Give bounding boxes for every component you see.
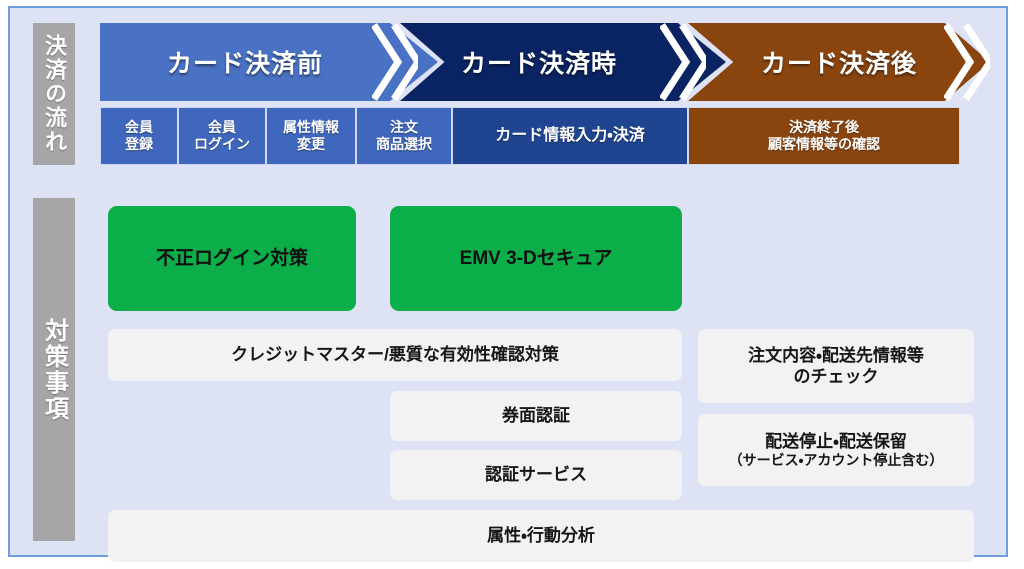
diagram-root: 決済の流れ 対策事項 カード決済前 カード決済時 カード決済後 — [0, 0, 1024, 569]
measure-order-shipping-check[interactable]: 注文内容・配送先情報等 のチェック — [698, 329, 974, 403]
step-card-info-entry-payment-label: カード情報入力・決済 — [495, 127, 644, 146]
row-label-flow: 決済の流れ — [33, 23, 75, 165]
step-post-payment-confirmation-line2: 顧客情報等の確認 — [768, 136, 880, 153]
row-label-measures: 対策事項 — [33, 198, 75, 541]
step-card-info-entry-payment[interactable]: カード情報入力・決済 — [452, 107, 688, 165]
step-post-payment-confirmation-line1: 決済終了後 — [789, 119, 859, 136]
step-member-registration[interactable]: 会員 登録 — [100, 107, 178, 165]
step-attribute-change-line1: 属性情報 — [283, 119, 339, 136]
measure-credit-master-prevention[interactable]: クレジットマスター/悪質な有効性確認対策 — [108, 329, 682, 381]
countermeasures-area: 不正ログイン対策 EMV 3-Dセキュア クレジットマスター/悪質な有効性確認対… — [100, 198, 990, 543]
measure-attribute-behavior-analysis[interactable]: 属性・行動分析 — [108, 510, 974, 562]
phase-during-payment: カード決済時 — [400, 23, 678, 101]
step-attribute-change[interactable]: 属性情報 変更 — [266, 107, 356, 165]
measure-shipping-suspension-hold-label: 配送停止・配送保留 — [765, 431, 907, 452]
measure-fraud-login-prevention-label: 不正ログイン対策 — [156, 247, 308, 271]
step-member-login-line1: 会員 — [208, 119, 236, 136]
measure-authentication-service-label: 認証サービス — [485, 464, 587, 485]
phase-after-payment: カード決済後 — [688, 23, 990, 101]
measure-shipping-suspension-hold-note: （サービス・アカウント停止含む） — [729, 452, 944, 470]
step-post-payment-confirmation[interactable]: 決済終了後 顧客情報等の確認 — [688, 107, 960, 165]
measure-emv-3d-secure[interactable]: EMV 3-Dセキュア — [390, 206, 682, 311]
phase-before-payment-label: カード決済前 — [167, 44, 323, 80]
payment-step-row: 会員 登録 会員 ログイン 属性情報 変更 注文 商品選択 カード情報入力・決済… — [100, 107, 990, 165]
step-member-login[interactable]: 会員 ログイン — [178, 107, 266, 165]
phase-during-payment-label: カード決済時 — [461, 44, 617, 80]
phase-before-payment: カード決済前 — [100, 23, 390, 101]
step-member-registration-line2: 登録 — [125, 136, 153, 153]
measure-fraud-login-prevention[interactable]: 不正ログイン対策 — [108, 206, 356, 311]
step-order-product-selection-line2: 商品選択 — [376, 136, 432, 153]
measure-card-face-authentication[interactable]: 券面認証 — [390, 391, 682, 441]
measure-credit-master-prevention-label: クレジットマスター/悪質な有効性確認対策 — [231, 344, 559, 365]
phase-after-payment-label: カード決済後 — [761, 44, 917, 80]
measure-order-shipping-check-line2: のチェック — [794, 366, 879, 387]
step-attribute-change-line2: 変更 — [297, 136, 325, 153]
measure-emv-3d-secure-label: EMV 3-Dセキュア — [460, 247, 613, 271]
step-order-product-selection-line1: 注文 — [390, 119, 418, 136]
measure-authentication-service[interactable]: 認証サービス — [390, 450, 682, 500]
step-member-registration-line1: 会員 — [125, 119, 153, 136]
measure-attribute-behavior-analysis-label: 属性・行動分析 — [487, 525, 595, 546]
step-order-product-selection[interactable]: 注文 商品選択 — [356, 107, 452, 165]
measure-shipping-suspension-hold[interactable]: 配送停止・配送保留 （サービス・アカウント停止含む） — [698, 414, 974, 486]
diagram-panel: 決済の流れ 対策事項 カード決済前 カード決済時 カード決済後 — [8, 6, 1008, 557]
measure-order-shipping-check-label: 注文内容・配送先情報等 — [748, 345, 924, 366]
measure-card-face-authentication-label: 券面認証 — [502, 405, 570, 426]
step-member-login-line2: ログイン — [194, 136, 250, 153]
